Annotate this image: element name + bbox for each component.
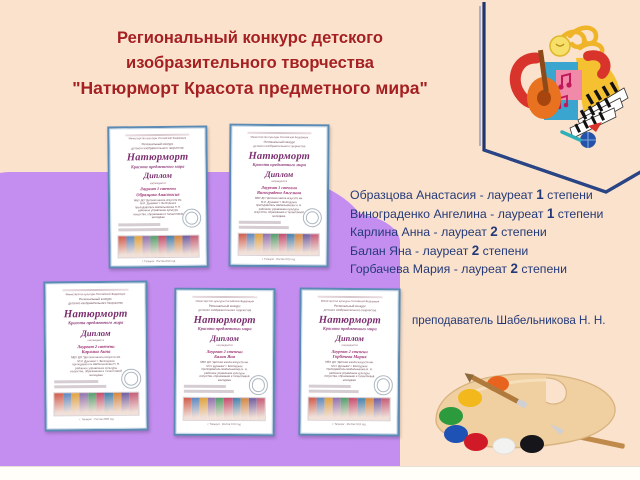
artwork-thumb <box>302 235 310 256</box>
signature-line <box>183 390 234 393</box>
artwork-thumb <box>174 236 182 257</box>
certificate-body: Министерство культуры Российской Федерац… <box>176 290 274 435</box>
certificate-card[interactable]: Министерство культуры Российской Федерац… <box>174 288 276 437</box>
artwork-thumb <box>208 398 216 420</box>
award-suffix: степени <box>498 225 547 239</box>
artwork-thumb <box>216 398 224 420</box>
paint-palette-icon <box>418 358 633 470</box>
signature-line <box>238 221 280 224</box>
artwork-thumb <box>310 235 318 256</box>
laureate-name: Образцова Анастасия <box>350 188 476 202</box>
certificate-awarded-word: награждается <box>217 344 233 347</box>
official-seal-icon <box>303 208 322 227</box>
artwork-thumb <box>247 234 255 255</box>
certificate-recipient: Виноградено Ангелина <box>257 190 301 195</box>
certificate-body: Министерство культуры Российской Федерац… <box>231 126 328 266</box>
award-prefix: лауреат <box>423 244 472 258</box>
laureate-name: Карлина Анна <box>350 225 430 239</box>
award-degree: 2 <box>490 224 497 239</box>
artwork-thumb <box>158 236 166 257</box>
certificate-diploma-word: Диплом <box>265 169 293 178</box>
artwork-thumb <box>80 393 89 415</box>
artwork-thumb <box>287 234 295 255</box>
certificate-awarded-word: награждается <box>271 180 287 183</box>
artwork-thumb <box>224 398 232 420</box>
certificate-rule <box>318 296 382 299</box>
artwork-strip <box>238 233 320 256</box>
artwork-thumb <box>166 236 174 257</box>
certificate-card[interactable]: Министерство культуры Российской Федерац… <box>229 124 330 268</box>
certificate-footer: г. Таганрог - Ростов 2020 год <box>142 260 175 263</box>
artwork-thumb <box>279 234 287 255</box>
certificate-diploma-word: Диплом <box>210 333 239 342</box>
artwork-thumb <box>240 398 248 420</box>
signature-line <box>118 223 160 226</box>
certificate-footer: г. Таганрог - Ростов 2020 год <box>332 423 365 426</box>
award-degree: 1 <box>536 187 543 202</box>
list-item: Карлина Анна - лауреат 2 степени <box>350 223 635 242</box>
signature-line <box>308 385 351 388</box>
certificate-subtitle: Красота предметного мира <box>323 326 377 331</box>
certificate-title: Натюрморт <box>64 307 128 320</box>
certificate-degree: Лауреат 1 степени <box>261 184 297 189</box>
list-item: Образцова Анастасия - лауреат 1 степени <box>350 186 635 205</box>
list-item: Винограденко Ангелина - лауреат 1 степен… <box>350 205 635 224</box>
laureates-list: Образцова Анастасия - лауреат 1 степени … <box>350 186 635 279</box>
artwork-thumb <box>135 237 143 258</box>
award-suffix: степени <box>518 262 567 276</box>
certificate-subtitle: Красота предметного мира <box>131 164 184 170</box>
artwork-thumb <box>381 399 389 421</box>
certificate-card[interactable]: Министерство культуры Российской Федерац… <box>298 288 400 437</box>
artwork-thumb <box>256 399 264 421</box>
award-prefix: лауреат <box>498 207 547 221</box>
artwork-thumb <box>333 398 341 420</box>
music-art-illustration-icon <box>492 14 632 154</box>
signature-line <box>183 385 226 388</box>
certificate-body: Министерство культуры Российской Федерац… <box>109 128 206 267</box>
artwork-thumb <box>317 398 325 420</box>
certificate-ministry: Министерство культуры Российской Федерац… <box>185 299 265 303</box>
page-title: Региональный конкурс детского изобразите… <box>40 26 460 101</box>
certificate-diploma-word: Диплом <box>335 333 364 342</box>
certificate-card[interactable]: Министерство культуры Российской Федерац… <box>43 281 148 432</box>
signature-line <box>54 380 98 383</box>
artwork-thumb <box>365 399 373 421</box>
award-prefix: лауреат <box>461 262 510 276</box>
certificate-ministry: Министерство культуры Российской Федерац… <box>118 137 197 141</box>
artwork-strip <box>54 392 140 417</box>
artwork-thumb <box>192 398 200 420</box>
certificate-degree: Лауреат 2 степени <box>206 348 242 353</box>
list-item: Балан Яна - лауреат 2 степени <box>350 242 635 261</box>
official-seal-icon <box>249 375 268 394</box>
certificate-body: Министерство культуры Российской Федерац… <box>45 283 146 430</box>
certificate-recipient: Карлина Анна <box>82 349 111 354</box>
certificate-title: Натюрморт <box>319 314 381 326</box>
laureate-name: Балан Яна <box>350 244 412 258</box>
laureate-name: Горбачева Мария <box>350 262 450 276</box>
certificate-body: Министерство культуры Российской Федерац… <box>300 290 398 435</box>
artwork-thumb <box>150 236 158 257</box>
artwork-thumb <box>295 234 303 255</box>
certificate-ministry: Министерство культуры Российской Федерац… <box>54 292 137 296</box>
separator: - <box>450 262 461 276</box>
certificate-ministry: Министерство культуры Российской Федерац… <box>310 299 390 303</box>
signature-line <box>54 385 106 388</box>
certificate-subtitle-2: детского изобразительного творчества <box>253 145 305 149</box>
artwork-thumb <box>263 234 271 255</box>
artwork-strip <box>183 397 266 421</box>
official-seal-icon <box>121 369 141 389</box>
artwork-thumb <box>309 398 317 420</box>
artwork-thumb <box>232 398 240 420</box>
artwork-strip <box>308 397 391 421</box>
artwork-thumb <box>127 237 135 258</box>
bottom-band <box>0 466 640 480</box>
title-line-3: "Натюрморт Красота предметного мира" <box>40 76 460 101</box>
artwork-thumb <box>88 393 97 415</box>
certificate-degree: Лауреат 2 степени <box>331 348 367 353</box>
artwork-thumb <box>349 398 357 420</box>
certificate-recipient: Балан Яна <box>214 354 235 359</box>
artwork-thumb <box>190 236 198 257</box>
certificate-degree: Лауреат 2 степени <box>77 343 114 348</box>
award-suffix: степени <box>544 188 593 202</box>
separator: - <box>412 244 423 258</box>
certificate-subtitle: Красота предметного мира <box>253 162 306 167</box>
certificate-recipient: Горбачева Мария <box>333 354 367 359</box>
certificate-footer: г. Таганрог - Ростов 2020 год <box>208 423 241 426</box>
title-line-2: изобразительного творчества <box>40 51 460 76</box>
title-line-1: Региональный конкурс детского <box>40 26 460 51</box>
certificate-title: Натюрморт <box>194 314 256 325</box>
certificate-rule <box>62 289 129 292</box>
artwork-strip <box>118 235 200 258</box>
certificate-awarded-word: награждается <box>88 339 105 342</box>
artwork-thumb <box>239 234 247 255</box>
certificate-title: Натюрморт <box>127 152 189 164</box>
certificate-diploma-word: Диплом <box>144 171 172 180</box>
artwork-thumb <box>325 398 333 420</box>
artwork-thumb <box>255 234 263 255</box>
certificate-subtitle-2: детского изобразительного творчества <box>198 309 251 313</box>
artwork-thumb <box>248 399 256 421</box>
artwork-thumb <box>105 393 114 415</box>
artwork-thumb <box>96 393 105 415</box>
poster-canvas: Региональный конкурс детского изобразите… <box>0 0 640 480</box>
separator: - <box>487 207 498 221</box>
artwork-thumb <box>184 398 192 420</box>
artwork-thumb <box>271 234 279 255</box>
certificate-rule <box>248 132 312 134</box>
certificate-diploma-word: Диплом <box>81 327 111 337</box>
award-degree: 2 <box>510 261 517 276</box>
signature-line <box>308 390 359 393</box>
award-prefix: лауреат <box>441 225 490 239</box>
signature-line <box>238 226 288 229</box>
certificate-ministry: Министерство культуры Российской Федерац… <box>240 135 319 139</box>
artwork-thumb <box>373 399 381 421</box>
certificate-footer: г. Таганрог - Ростов 2020 год <box>79 418 113 421</box>
certificate-awarded-word: награждается <box>342 344 358 347</box>
teacher-credit: преподаватель Шабельникова Н. Н. <box>412 314 605 327</box>
artwork-thumb <box>119 237 127 258</box>
certificate-subtitle-2: детского изобразительного творчества <box>324 308 377 312</box>
artwork-thumb <box>130 393 139 415</box>
signature-line <box>118 228 168 231</box>
list-item: Горбачева Мария - лауреат 2 степени <box>350 260 635 279</box>
award-suffix: степени <box>479 244 528 258</box>
certificate-awarded-word: награждается <box>150 182 166 185</box>
artwork-thumb <box>200 398 208 420</box>
certificate-subtitle: Красота предметного мира <box>68 320 123 325</box>
certificate-subtitle-2: детского изобразительного творчества <box>131 146 183 150</box>
certificate-footer: г. Таганрог - Ростов 2020 год <box>262 258 295 261</box>
certificate-card[interactable]: Министерство культуры Российской Федерац… <box>107 125 208 268</box>
laureate-name: Винограденко Ангелина <box>350 207 487 221</box>
artwork-thumb <box>182 236 190 257</box>
artwork-thumb <box>113 393 122 415</box>
artwork-thumb <box>357 398 365 420</box>
award-suffix: степени <box>554 207 603 221</box>
artwork-thumb <box>121 393 130 415</box>
separator: - <box>430 225 441 239</box>
certificate-rule <box>193 296 257 298</box>
artwork-thumb <box>55 394 64 416</box>
artwork-thumb <box>63 394 72 416</box>
separator: - <box>476 188 487 202</box>
award-prefix: лауреат <box>487 188 536 202</box>
artwork-thumb <box>341 398 349 420</box>
artwork-thumb <box>142 236 150 257</box>
artwork-thumb <box>71 394 80 416</box>
official-seal-icon <box>374 376 393 395</box>
certificate-subtitle: Красота предметного мира <box>198 326 252 331</box>
certificate-subtitle-2: детского изобразительного творчества <box>68 301 122 305</box>
certificate-title: Натюрморт <box>248 150 310 161</box>
certificate-recipient: Образцова Анастасия <box>136 192 179 197</box>
